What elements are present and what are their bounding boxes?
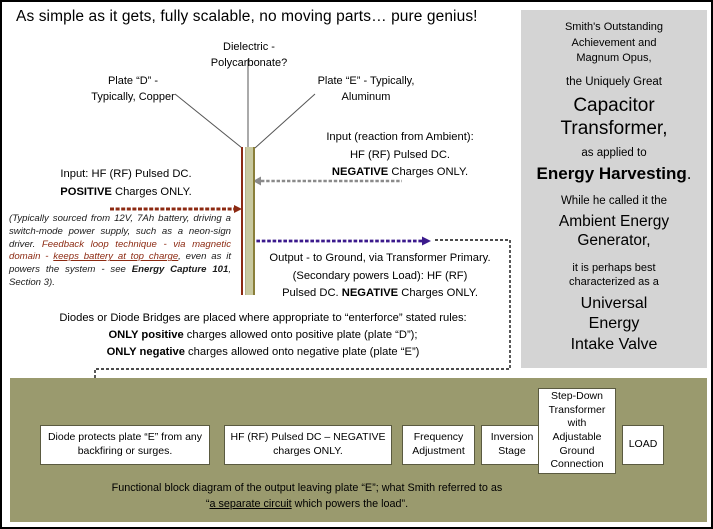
- plate-d-label-l1: Plate “D” -: [78, 74, 188, 90]
- sidebar-gap-5: [527, 184, 701, 195]
- positive-rest: Charges ONLY.: [112, 186, 192, 198]
- sidebar-line-7b: Generator,: [527, 231, 701, 250]
- sidebar-line-10: Energy Intake Valve: [527, 314, 701, 354]
- diode-rules-line-1: Diodes or Diode Bridges are placed where…: [18, 310, 508, 327]
- caption-line-2: “a separate circuit which powers the loa…: [32, 496, 582, 512]
- output-line-3-b: Charges ONLY.: [398, 287, 478, 299]
- diode-rules-line-2: ONLY positive charges allowed onto posit…: [18, 327, 508, 344]
- block-step-down-transformer[interactable]: Step-Down Transformer with Adjustable Gr…: [538, 388, 616, 474]
- page-title: As simple as it gets, fully scalable, no…: [16, 8, 516, 26]
- sidebar-line-1: Smith's Outstanding Achievement and Magn…: [527, 20, 701, 67]
- output-line-3-a: Pulsed DC.: [282, 287, 342, 299]
- plate-d-label-l2: Typically, Copper: [78, 90, 188, 106]
- block-load[interactable]: LOAD: [622, 425, 664, 465]
- sidebar-gap-7: [527, 251, 701, 261]
- note-part-5: Energy Capture 101: [132, 264, 229, 275]
- sidebar-line-5: Energy Harvesting.: [527, 164, 701, 184]
- sidebar-panel: Smith's Outstanding Achievement and Magn…: [521, 10, 707, 368]
- sidebar-line-8a: it is perhaps best: [527, 261, 701, 276]
- caption-underlined-phrase: a separate circuit: [209, 498, 291, 510]
- negative-emphasis: NEGATIVE: [332, 166, 388, 178]
- output-line-3: Pulsed DC. NEGATIVE Charges ONLY.: [249, 285, 511, 303]
- block-diagram-caption: Functional block diagram of the output l…: [32, 480, 582, 512]
- output-arrow: [251, 237, 431, 246]
- sidebar-line-7a: Ambient Energy: [527, 212, 701, 231]
- sidebar-line-3b: Transformer,: [527, 117, 701, 140]
- sidebar-line-8b: characterized as a: [527, 275, 701, 290]
- sidebar-line-1a: Smith's Outstanding: [527, 20, 701, 36]
- plate-d-label: Plate “D” - Typically, Copper: [78, 74, 188, 105]
- sidebar-line-3: Capacitor Transformer,: [527, 94, 701, 140]
- left-input-line-1: Input: HF (RF) Pulsed DC.: [20, 165, 232, 183]
- sidebar-line-1c: Magnum Opus,: [527, 51, 701, 67]
- diode-rules-line-3: ONLY negative charges allowed onto negat…: [18, 344, 508, 361]
- dielectric-label: Dielectric - Polycarbonate?: [193, 40, 305, 71]
- only-negative-rest: charges allowed onto negative plate (pla…: [185, 346, 419, 358]
- plate-e-label-l1: Plate “E” - Typically,: [305, 74, 427, 90]
- caption-line-2-post: which powers the load”.: [292, 498, 408, 510]
- negative-rest: Charges ONLY.: [388, 166, 468, 178]
- only-positive-rest: charges allowed onto positive plate (pla…: [184, 329, 418, 341]
- sidebar-line-10b: Intake Valve: [527, 335, 701, 355]
- diode-rules-text: Diodes or Diode Bridges are placed where…: [18, 310, 508, 360]
- dielectric-label-l1: Dielectric -: [193, 40, 305, 56]
- caption-line-1: Functional block diagram of the output l…: [32, 480, 582, 496]
- sidebar-gap-3: [527, 140, 701, 147]
- sidebar-line-10a: Energy: [527, 314, 701, 334]
- output-negative-emphasis: NEGATIVE: [342, 287, 398, 299]
- output-text: Output - to Ground, via Transformer Prim…: [249, 250, 511, 303]
- source-note: (Typically sourced from 12V, 7Ah battery…: [9, 213, 231, 290]
- block-diode-protects[interactable]: Diode protects plate “E” from any backfi…: [40, 425, 210, 465]
- sidebar-line-6: While he called it the: [527, 195, 701, 207]
- block-hf-rf-pulsed-dc[interactable]: HF (RF) Pulsed DC – NEGATIVE charges ONL…: [224, 425, 392, 465]
- sidebar-line-9: Universal: [527, 294, 701, 314]
- right-input-line-2: HF (RF) Pulsed DC.: [292, 147, 508, 165]
- sidebar-line-7: Ambient Energy Generator,: [527, 212, 701, 250]
- right-input-line-3: NEGATIVE Charges ONLY.: [292, 164, 508, 182]
- block-inversion-stage[interactable]: Inversion Stage: [481, 425, 543, 465]
- positive-emphasis: POSITIVE: [60, 186, 112, 198]
- left-input-line-2: POSITIVE Charges ONLY.: [20, 183, 232, 201]
- only-negative-emphasis: ONLY negative: [107, 346, 185, 358]
- diagram-page: As simple as it gets, fully scalable, no…: [0, 0, 713, 529]
- sidebar-gap-1: [527, 67, 701, 76]
- block-frequency-adjustment[interactable]: Frequency Adjustment: [402, 425, 475, 465]
- only-positive-emphasis: ONLY positive: [108, 329, 183, 341]
- output-line-1: Output - to Ground, via Transformer Prim…: [249, 250, 511, 268]
- note-part-3: keeps battery at top charge: [53, 251, 178, 262]
- sidebar-line-4: as applied to: [527, 147, 701, 159]
- sidebar-line-2: the Uniquely Great: [527, 76, 701, 88]
- right-input-line-1: Input (reaction from Ambient):: [292, 129, 508, 147]
- dielectric-label-l2: Polycarbonate?: [193, 56, 305, 72]
- positive-input-arrow: [110, 205, 242, 213]
- plate-e-label-l2: Aluminum: [305, 90, 427, 106]
- right-input-text: Input (reaction from Ambient): HF (RF) P…: [292, 129, 508, 182]
- left-input-text: Input: HF (RF) Pulsed DC. POSITIVE Charg…: [20, 165, 232, 201]
- output-line-2: (Secondary powers Load): HF (RF): [249, 268, 511, 286]
- sidebar-line-3a: Capacitor: [527, 94, 701, 117]
- sidebar-period: .: [687, 164, 692, 183]
- sidebar-energy-harvesting: Energy Harvesting: [537, 164, 687, 183]
- sidebar-line-8: it is perhaps best characterized as a: [527, 261, 701, 291]
- plate-e-label: Plate “E” - Typically, Aluminum: [305, 74, 427, 105]
- sidebar-line-1b: Achievement and: [527, 36, 701, 52]
